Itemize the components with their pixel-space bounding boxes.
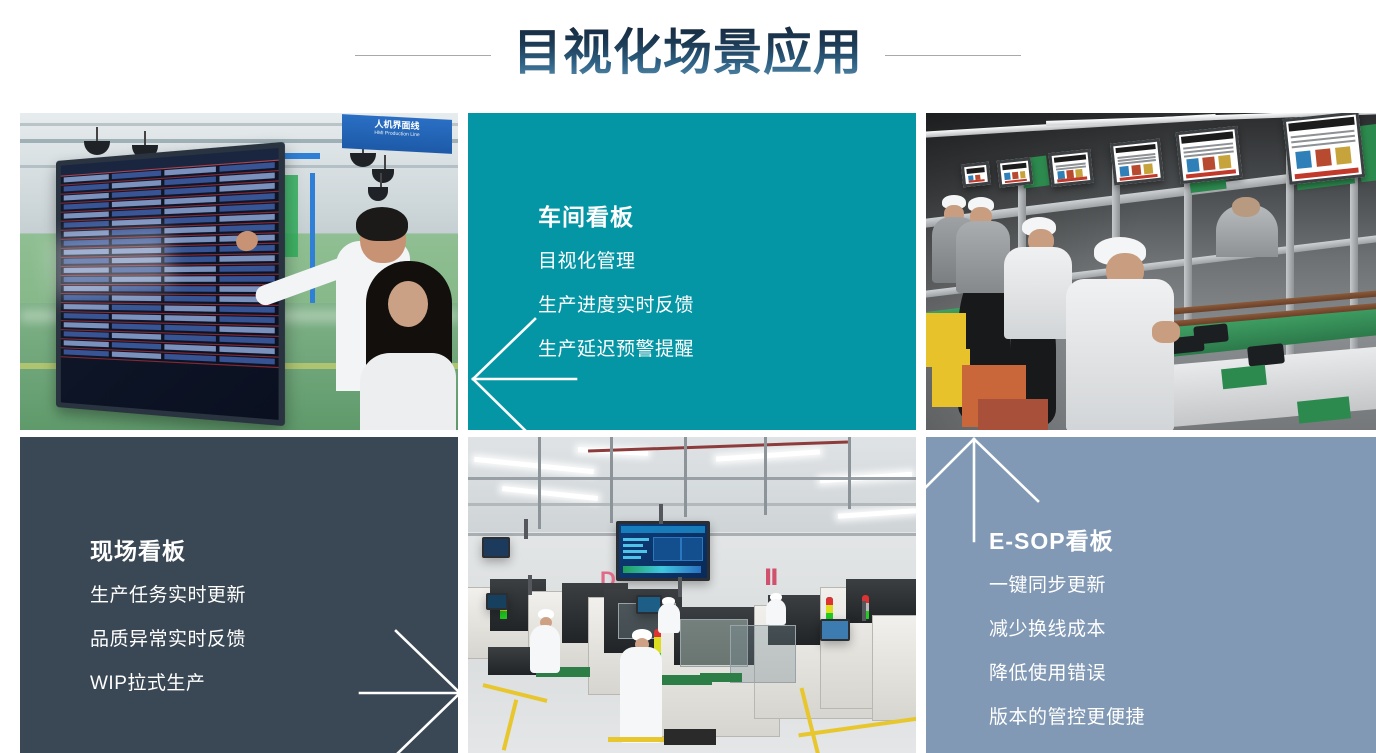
esop-monitor [1175, 126, 1242, 184]
panel-esop-kanban-line-2: 减少换线成本 [989, 614, 1145, 641]
title-rule-left [355, 55, 491, 56]
esop-monitor [997, 157, 1034, 187]
esop-monitor [1048, 149, 1093, 187]
panel-workshop-kanban: 车间看板 目视化管理 生产进度实时反馈 生产延迟预警提醒 [468, 113, 916, 430]
hmi-line-banner-text: 人机界面线 [374, 119, 419, 131]
panel-site-kanban-title: 现场看板 [90, 532, 246, 566]
panel-esop-kanban-line-4: 版本的管控更便捷 [989, 702, 1145, 729]
hmi-line-banner: 人机界面线 HMI Production Line [342, 114, 452, 154]
smt-dashboard-monitor [616, 521, 710, 581]
panel-esop-kanban-body: E-SOP看板 一键同步更新 减少换线成本 降低使用错误 版本的管控更便捷 [989, 522, 1145, 729]
photo-smt-floor-dashboard: D Ⅱ [468, 437, 916, 753]
esop-monitor [961, 162, 991, 188]
panel-workshop-kanban-line-1: 目视化管理 [538, 246, 694, 273]
panel-site-kanban-line-3: WIP拉式生产 [90, 668, 246, 695]
panel-site-kanban: 现场看板 生产任务实时更新 品质异常实时反馈 WIP拉式生产 [20, 437, 458, 753]
panel-site-kanban-line-1: 生产任务实时更新 [90, 580, 246, 607]
panel-workshop-kanban-line-2: 生产进度实时反馈 [538, 290, 694, 317]
panel-site-kanban-body: 现场看板 生产任务实时更新 品质异常实时反馈 WIP拉式生产 [90, 532, 246, 695]
panel-esop-kanban-title: E-SOP看板 [989, 522, 1145, 556]
panel-esop-kanban-line-3: 降低使用错误 [989, 658, 1145, 685]
photo-hmi-line-kanban: 人机界面线 HMI Production Line [20, 113, 458, 430]
panel-site-kanban-line-2: 品质异常实时反馈 [90, 624, 246, 651]
esop-monitor [1110, 139, 1164, 186]
panel-workshop-kanban-line-3: 生产延迟预警提醒 [538, 334, 694, 361]
page-title: 目视化场景应用 [513, 23, 863, 88]
photo-esop-assembly-line-image [926, 113, 1376, 430]
panel-esop-kanban-line-1: 一键同步更新 [989, 570, 1145, 597]
panel-workshop-kanban-body: 车间看板 目视化管理 生产进度实时反馈 生产延迟预警提醒 [538, 198, 694, 361]
page-header: 目视化场景应用 [0, 0, 1376, 110]
photo-esop-assembly-line [926, 113, 1376, 430]
photo-hmi-line-kanban-image: 人机界面线 HMI Production Line [20, 113, 458, 430]
esop-monitor [1283, 113, 1365, 185]
panel-workshop-kanban-title: 车间看板 [538, 198, 694, 232]
scenario-grid: 人机界面线 HMI Production Line 车间看板 目视化管理 生产进… [20, 113, 1356, 753]
title-rule-right [885, 55, 1021, 56]
panel-esop-kanban: E-SOP看板 一键同步更新 减少换线成本 降低使用错误 版本的管控更便捷 [926, 437, 1376, 753]
photo-smt-floor-dashboard-image: D Ⅱ [468, 437, 916, 753]
hmi-line-banner-subtext: HMI Production Line [342, 128, 452, 140]
